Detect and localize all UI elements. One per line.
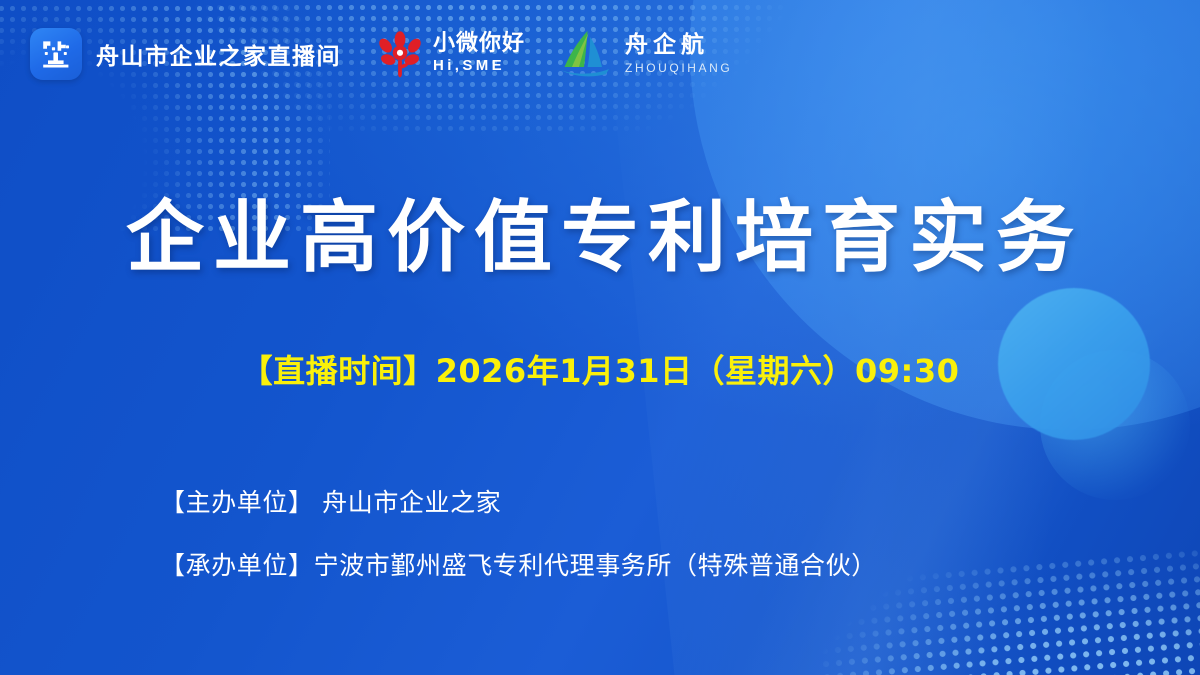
- organizer-block: 【主办单位】 舟山市企业之家 【承办单位】宁波市鄞州盛飞专利代理事务所（特殊普通…: [160, 488, 877, 581]
- logo-zhouqihang-label-en: ZHOUQIHANG: [625, 61, 732, 75]
- logo-hi-sme-text: 小微你好 Hi,SME: [433, 32, 525, 76]
- zhoushan-enterprise-home-mark-icon: [30, 28, 82, 80]
- logo-zhoushan-enterprise-home-label: 舟山市企业之家直播间: [96, 37, 341, 71]
- logo-zhouqihang-text: 舟企航 ZHOUQIHANG: [625, 33, 732, 74]
- zhouqihang-sailboat-mark-icon: [557, 28, 615, 80]
- logo-bar: 舟山市企业之家直播间: [30, 28, 732, 80]
- live-time-text: 【直播时间】2026年1月31日（星期六）09:30: [0, 352, 1200, 390]
- live-stream-poster: 舟山市企业之家直播间: [0, 0, 1200, 675]
- hi-sme-flower-mark-icon: [377, 30, 423, 78]
- logo-hi-sme-label-cn: 小微你好: [433, 32, 525, 55]
- logo-hi-sme-label-en: Hi,SME: [433, 57, 525, 76]
- page-title: 企业高价值专利培育实务: [0, 196, 1200, 280]
- logo-zhouqihang-label-cn: 舟企航: [625, 33, 732, 57]
- logo-zhouqihang[interactable]: 舟企航 ZHOUQIHANG: [557, 28, 732, 80]
- logo-zhoushan-enterprise-home[interactable]: 舟山市企业之家直播间: [30, 28, 341, 80]
- logo-hi-sme[interactable]: 小微你好 Hi,SME: [377, 30, 525, 78]
- organizer-coorganizer-line: 【承办单位】宁波市鄞州盛飞专利代理事务所（特殊普通合伙）: [160, 551, 877, 581]
- organizer-host-line: 【主办单位】 舟山市企业之家: [160, 488, 877, 518]
